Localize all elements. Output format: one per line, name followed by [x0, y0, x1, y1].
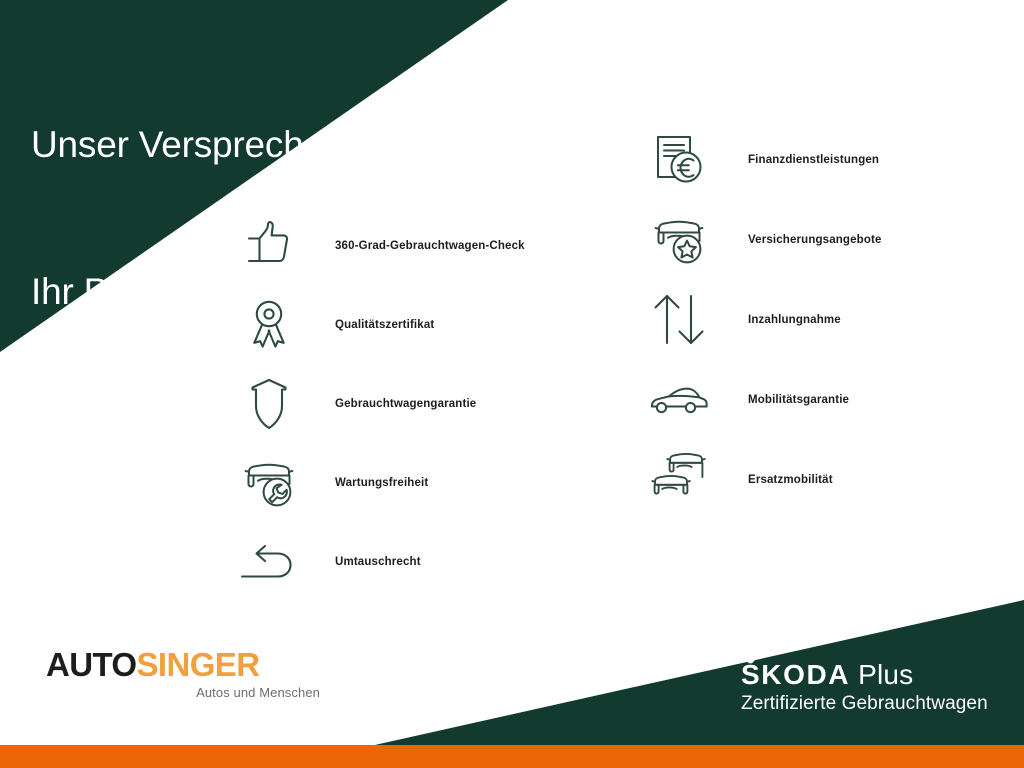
feature-label: Ersatzmobilität [748, 474, 833, 486]
up-down-arrows-icon [648, 289, 710, 351]
feature-item-trade-in: Inzahlungnahme [648, 280, 882, 360]
brand-logo: ŠKODA Plus Zertifizierte Gebrauchtwagen [741, 660, 988, 715]
dealer-wordmark: AUTOSINGER [46, 648, 326, 682]
brand-name: ŠKODA [741, 659, 850, 690]
feature-item-quality-certificate: Qualitätszertifikat [238, 285, 525, 364]
feature-item-360-check: 360-Grad-Gebrauchtwagen-Check [238, 206, 525, 285]
orange-footer-bar [0, 745, 1024, 768]
feature-item-replacement-mobility: Ersatzmobilität [648, 440, 882, 520]
feature-label: Finanzdienstleistungen [748, 154, 879, 166]
document-euro-icon [648, 129, 710, 191]
two-cars-icon [648, 449, 710, 511]
feature-label: Umtauschrecht [335, 556, 421, 568]
feature-label: Qualitätszertifikat [335, 319, 434, 331]
feature-label: Mobilitätsgarantie [748, 394, 849, 406]
feature-label: Gebrauchtwagengarantie [335, 398, 476, 410]
feature-label: 360-Grad-Gebrauchtwagen-Check [335, 240, 525, 252]
brand-wordmark: ŠKODA Plus [741, 660, 988, 690]
car-wrench-icon [238, 452, 300, 514]
car-side-icon [648, 369, 710, 431]
brand-suffix: Plus [850, 659, 913, 690]
return-arrow-icon [238, 531, 300, 593]
promise-banner: Unser Versprechen. Ihr Plus. 360-Grad-Ge… [0, 0, 1024, 768]
feature-item-financial-services: Finanzdienstleistungen [648, 120, 882, 200]
feature-list-right: Finanzdienstleistungen Versicherungsange… [648, 120, 882, 520]
feature-label: Inzahlungnahme [748, 314, 841, 326]
award-ribbon-icon [238, 294, 300, 356]
feature-label: Wartungsfreiheit [335, 477, 428, 489]
brand-subline: Zertifizierte Gebrauchtwagen [741, 692, 988, 715]
dealer-tagline: Autos und Menschen [46, 685, 326, 700]
feature-label: Versicherungsangebote [748, 234, 882, 246]
feature-item-warranty: Gebrauchtwagengarantie [238, 364, 525, 443]
car-star-icon [648, 209, 710, 271]
feature-item-return-right: Umtauschrecht [238, 522, 525, 601]
feature-item-insurance-offers: Versicherungsangebote [648, 200, 882, 280]
thumbs-up-icon [238, 215, 300, 277]
feature-item-mobility-guarantee: Mobilitätsgarantie [648, 360, 882, 440]
shield-icon [238, 373, 300, 435]
dealer-wordmark-primary: AUTO [46, 646, 137, 683]
dealer-logo: AUTOSINGER Autos und Menschen [46, 648, 326, 700]
dealer-wordmark-accent: SINGER [137, 646, 260, 683]
feature-item-maintenance-free: Wartungsfreiheit [238, 443, 525, 522]
headline-line-1: Unser Versprechen. [31, 120, 354, 169]
feature-list-left: 360-Grad-Gebrauchtwagen-Check Qualitätsz… [238, 206, 525, 601]
